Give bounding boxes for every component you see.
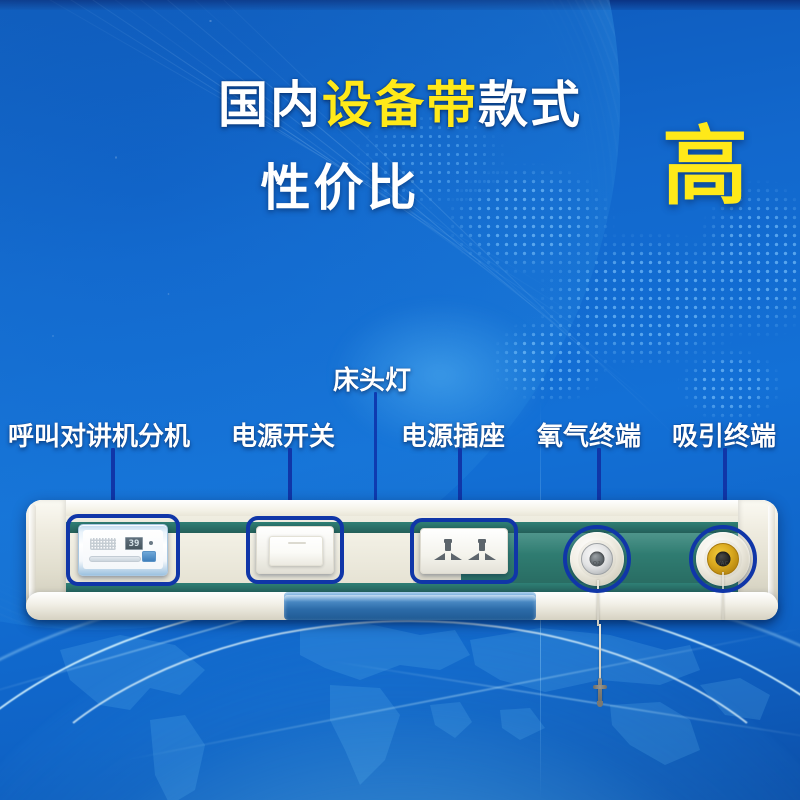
callout-label-intercom: 呼叫对讲机分机 xyxy=(8,416,190,453)
callout-label-power-switch: 电源开关 xyxy=(231,416,335,453)
product-banner: 国内设备带款式 性价比 高 呼叫对讲机分机 电源开关 床头灯 电源插座 氧气终端… xyxy=(0,0,800,800)
pull-cord-handle[interactable] xyxy=(593,678,607,704)
highlight-box-power-outlet xyxy=(410,518,518,584)
pull-handle-tip xyxy=(597,701,603,707)
pull-cord-lower xyxy=(599,624,601,680)
highlight-circle-suction-terminal xyxy=(689,525,757,593)
callout-label-oxygen-terminal: 氧气终端 xyxy=(537,416,641,453)
highlight-box-intercom xyxy=(66,514,180,586)
highlight-circle-oxygen-terminal xyxy=(563,525,631,593)
bed-lamp-rail xyxy=(26,592,778,626)
highlight-box-power-switch xyxy=(246,516,344,584)
callout-label-power-outlet: 电源插座 xyxy=(401,416,505,453)
pull-handle-crossbar xyxy=(593,685,607,689)
bed-lamp-blue-diffuser[interactable] xyxy=(284,592,536,620)
callout-label-bed-lamp: 床头灯 xyxy=(333,360,411,397)
